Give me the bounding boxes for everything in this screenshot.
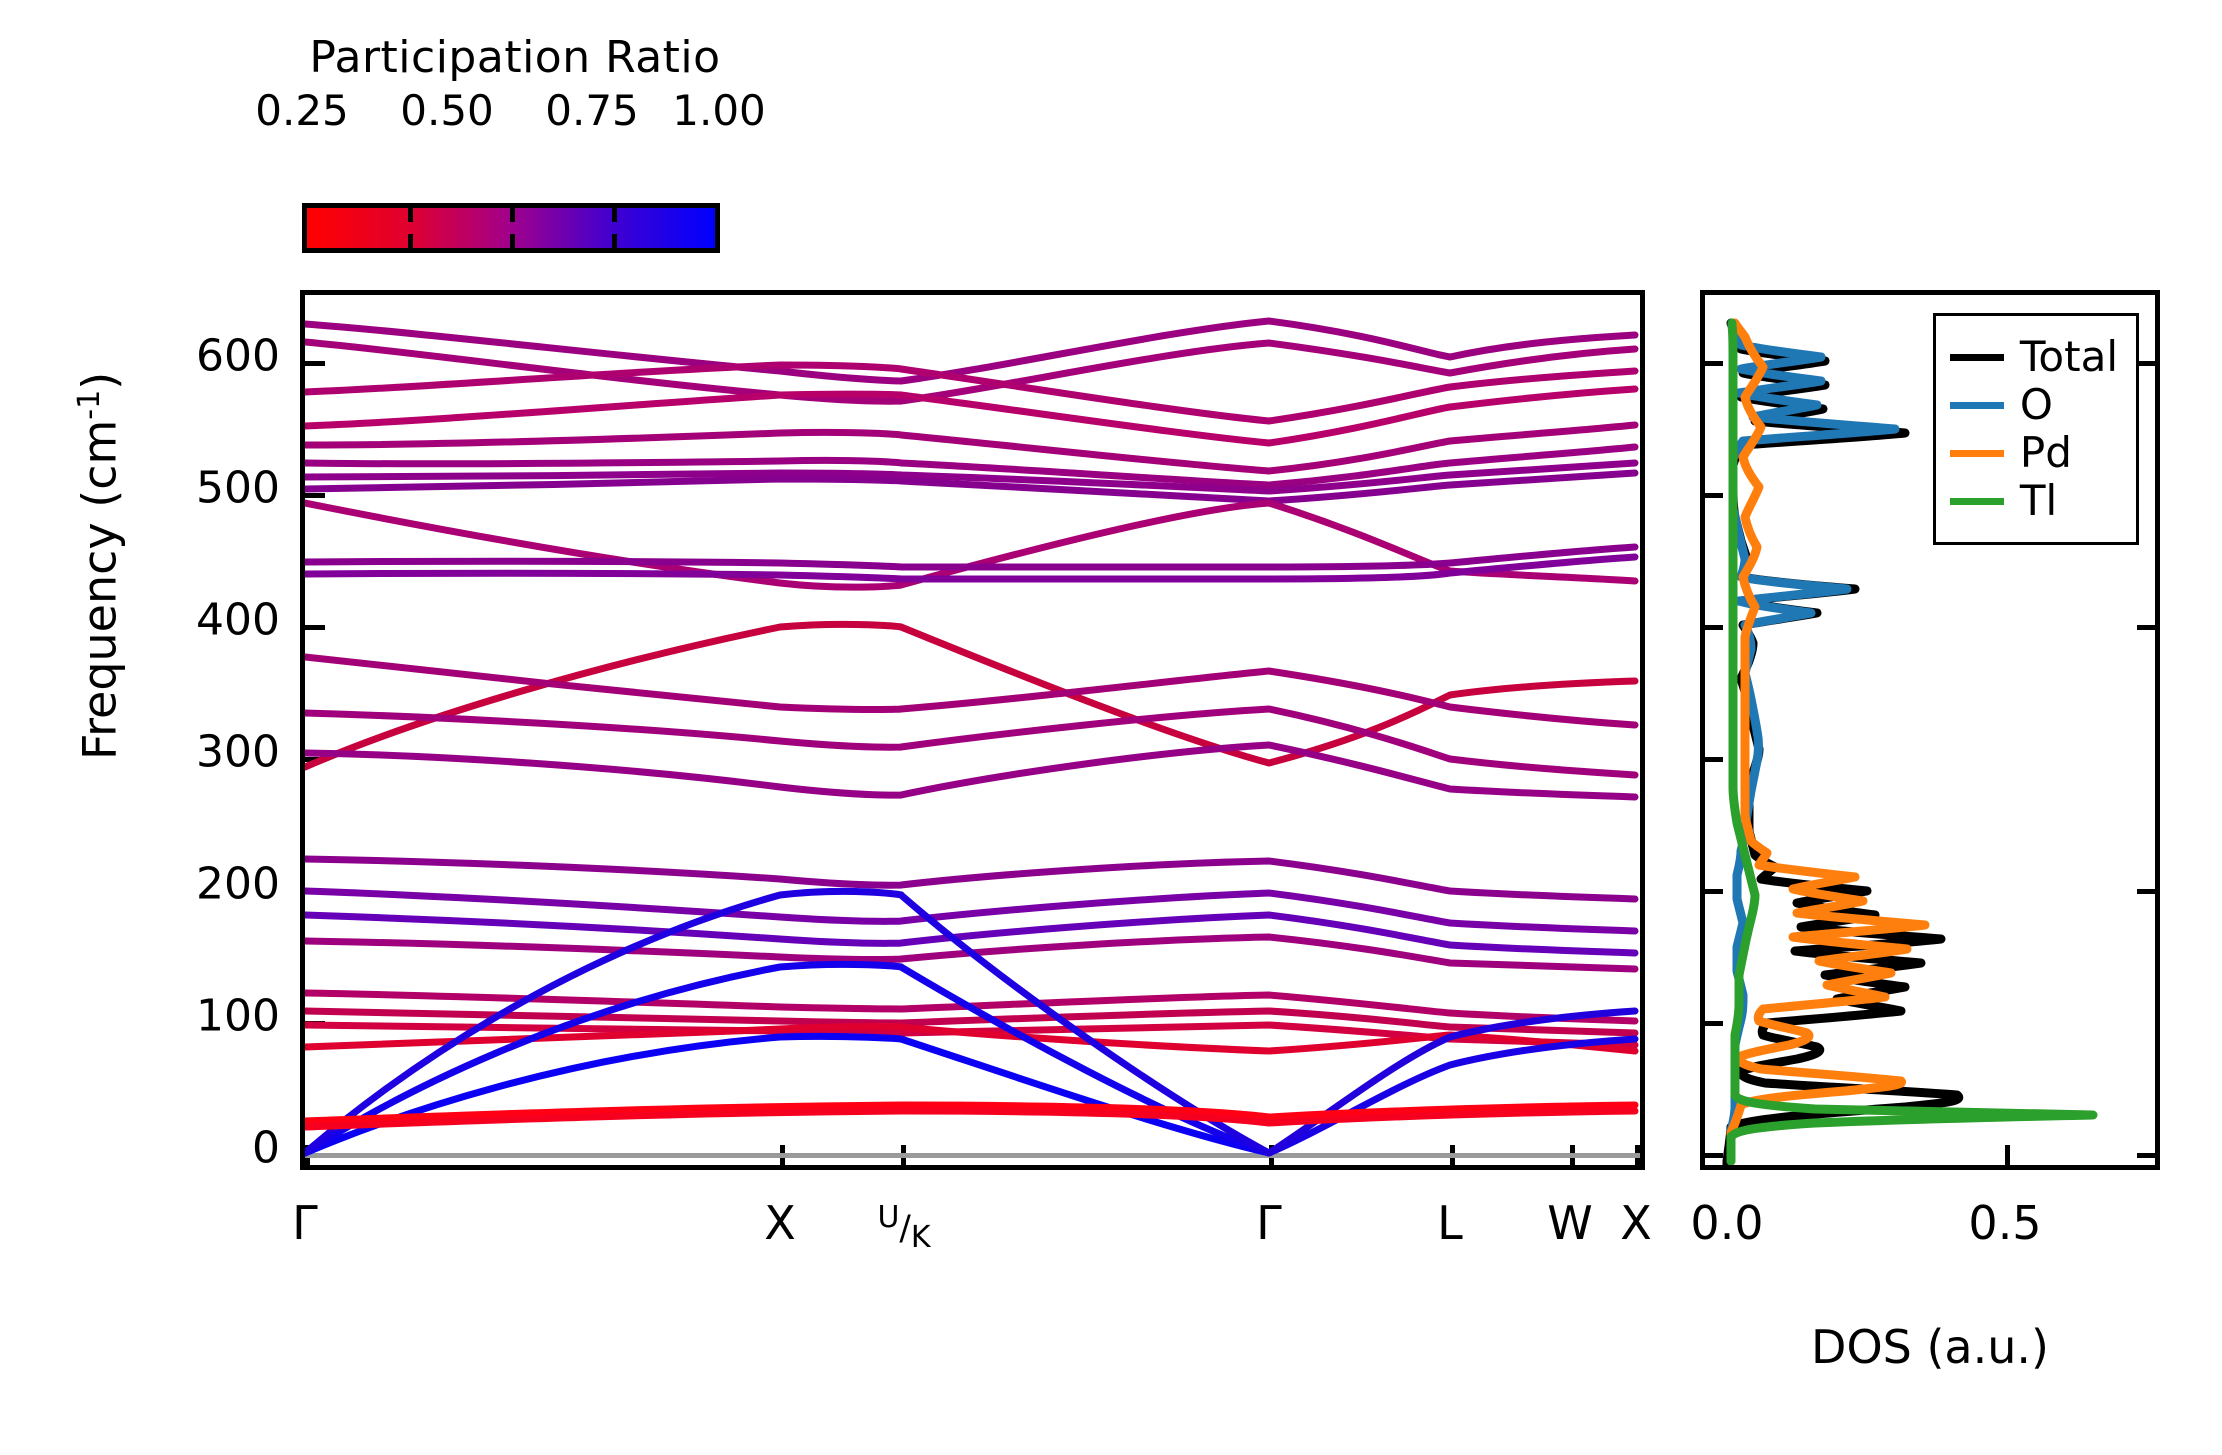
y-tick-label-group: 600 500 400 300 200 100 0 xyxy=(100,290,290,1170)
y-tick-label-400: 400 xyxy=(100,595,280,646)
legend-swatch-total xyxy=(1950,354,2004,361)
dos-legend: Total O Pd Tl xyxy=(1933,313,2139,545)
colorbar-tick-label-2: 0.75 xyxy=(545,86,639,135)
dos-x-tick-label-05: 0.5 xyxy=(1968,1196,2041,1250)
x-tick-label-l: L xyxy=(1437,1196,1463,1250)
band-structure-curves xyxy=(305,295,1640,1165)
y-tick-label-100: 100 xyxy=(100,991,280,1042)
legend-swatch-pd xyxy=(1950,450,2004,457)
x-tick-label-x-1: X xyxy=(764,1196,796,1250)
band-structure-panel[interactable] xyxy=(300,290,1645,1170)
colorbar-tick-labels: 0.25 0.50 0.75 1.00 xyxy=(195,86,835,132)
colorbar-title: Participation Ratio xyxy=(195,32,835,83)
y-tick-label-500: 500 xyxy=(100,463,280,514)
colorbar-tick-label-3: 1.00 xyxy=(672,86,766,135)
legend-item-pd: Pd xyxy=(1950,432,2118,474)
y-tick-label-300: 300 xyxy=(100,727,280,778)
dos-x-tick-label-00: 0.0 xyxy=(1690,1196,1763,1250)
legend-label-tl: Tl xyxy=(2020,480,2057,522)
colorbar-tick-0 xyxy=(408,208,413,222)
x-tick-label-u: U xyxy=(877,1200,899,1235)
band-x-tick-label-group: Γ X U/K Γ L W X xyxy=(300,1196,1645,1286)
legend-label-pd: Pd xyxy=(2020,432,2072,474)
x-tick-label-k: K xyxy=(911,1220,931,1255)
figure-root: Participation Ratio 0.25 0.50 0.75 1.00 … xyxy=(0,0,2222,1455)
dos-panel[interactable]: Total O Pd Tl xyxy=(1700,290,2160,1170)
y-tick-label-600: 600 xyxy=(100,331,280,382)
legend-item-tl: Tl xyxy=(1950,480,2118,522)
colorbar-tick-0b xyxy=(408,234,413,248)
legend-label-total: Total xyxy=(2020,336,2118,378)
y-tick-label-0: 0 xyxy=(100,1123,280,1174)
x-tick-label-x-2: X xyxy=(1620,1196,1652,1250)
participation-ratio-colorbar[interactable] xyxy=(302,203,720,253)
y-tick-label-200: 200 xyxy=(100,859,280,910)
x-tick-label-u-over-k: U/K xyxy=(877,1196,930,1253)
colorbar-tick-label-0: 0.25 xyxy=(255,86,349,135)
colorbar-tick-2 xyxy=(612,208,617,222)
x-tick-label-gamma-2: Γ xyxy=(1256,1196,1282,1250)
colorbar-tick-1 xyxy=(510,208,515,222)
colorbar-tick-1b xyxy=(510,234,515,248)
x-tick-label-gamma-1: Γ xyxy=(292,1196,318,1250)
dos-x-tick-label-group: 0.0 0.5 xyxy=(1700,1196,2160,1266)
legend-label-o: O xyxy=(2020,384,2053,426)
x-tick-label-w: W xyxy=(1547,1196,1592,1250)
colorbar-tick-label-1: 0.50 xyxy=(400,86,494,135)
legend-item-o: O xyxy=(1950,384,2118,426)
colorbar-tick-2b xyxy=(612,234,617,248)
legend-swatch-tl xyxy=(1950,498,2004,505)
legend-swatch-o xyxy=(1950,402,2004,409)
legend-item-total: Total xyxy=(1950,336,2118,378)
dos-axis-label: DOS (a.u.) xyxy=(1700,1320,2160,1374)
